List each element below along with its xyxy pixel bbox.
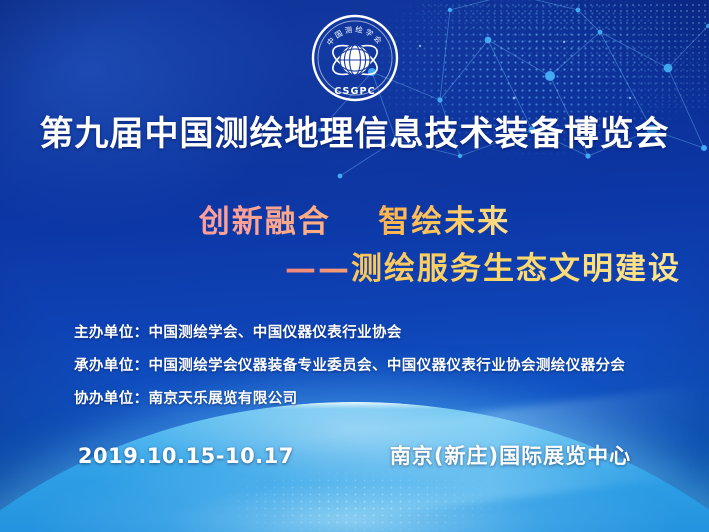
organizer-coorganizer: 协办单位：南京天乐展览有限公司 [74,383,625,416]
slogan-subtitle: 测绘服务生态文明建设 [351,251,681,287]
slogan-line-1: 创新融合 智绘未来 [0,196,709,241]
slogan-future: 智绘未来 [378,204,510,240]
organizer-list: 主办单位：中国测绘学会、中国仪器仪表行业协会 承办单位：中国测绘学会仪器装备专业… [74,317,625,416]
poster-footer: 2019.10.15-10.17 南京(新庄)国际展览中心 [0,440,709,470]
poster-title: 第九届中国测绘地理信息技术装备博览会 [0,106,709,155]
slogan-dash: —— [285,251,351,287]
exhibition-poster: 中国测绘学会 CSGPC 第九届中国测绘地理信息技术装备博览会 创新融合 [0,0,709,532]
logo: 中国测绘学会 CSGPC [311,14,399,102]
dotted-world-map-secondary [420,0,709,110]
slogan-innovation: 创新融合 [199,204,331,240]
event-venue: 南京(新庄)国际展览中心 [390,440,631,470]
organizer-host: 主办单位：中国测绘学会、中国仪器仪表行业协会 [74,317,625,350]
event-date: 2019.10.15-10.17 [78,444,294,468]
organizer-undertaker: 承办单位：中国测绘学会仪器装备专业委员会、中国仪器仪表行业协会测绘仪器分会 [74,350,625,383]
slogan-line-2: ——测绘服务生态文明建设 [285,243,681,288]
logo-acronym: CSGPC [334,86,376,97]
